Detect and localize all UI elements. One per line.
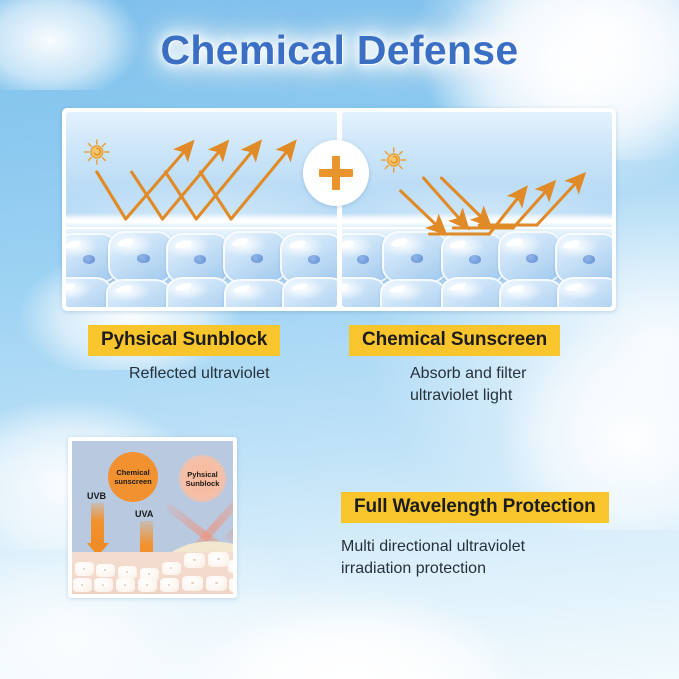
skin-cell — [228, 560, 233, 573]
skin-cross-section-inner: Chemical sunscreen Pyhsical Sunblock UVB… — [72, 441, 233, 594]
physical-sunblock-circle-line1: Pyhsical — [187, 470, 217, 479]
absorption-arrows — [342, 112, 613, 307]
skin-cell — [75, 562, 94, 576]
skin-layer — [72, 534, 233, 594]
skin-cross-section: Chemical sunscreen Pyhsical Sunblock UVB… — [68, 437, 237, 598]
chemical-sunscreen-badge: Chemical Sunscreen — [349, 325, 560, 356]
chemical-sunscreen-circle-line2: sunscreen — [114, 477, 152, 486]
skin-cell — [116, 578, 135, 592]
chemical-sunscreen-caption: Absorb and filter ultraviolet light — [410, 363, 527, 407]
skin-cell — [182, 576, 203, 591]
skin-cell — [94, 578, 113, 592]
skin-cell — [229, 578, 233, 592]
physical-sunblock-circle: Pyhsical Sunblock — [179, 455, 226, 502]
plus-icon-vertical-bar — [332, 156, 340, 190]
reflected-uv-diagram — [66, 112, 337, 307]
cloud-decoration — [200, 600, 520, 679]
full-wavelength-caption-line2: irradiation protection — [341, 558, 525, 580]
chemical-sunscreen-caption-line2: ultraviolet light — [410, 385, 527, 407]
skin-cell — [184, 553, 205, 568]
physical-sunblock-circle-line2: Sunblock — [186, 479, 220, 488]
skin-cell — [96, 564, 115, 577]
skin-cell — [162, 562, 181, 575]
chemical-sunscreen-circle-line1: Chemical — [116, 468, 149, 477]
full-wavelength-caption: Multi directional ultraviolet irradiatio… — [341, 536, 525, 580]
comparison-panel — [62, 108, 616, 311]
full-wavelength-caption-line1: Multi directional ultraviolet — [341, 536, 525, 558]
uvb-label: UVB — [87, 491, 106, 501]
sunscreen-infographic: Chemical Defense — [0, 0, 679, 679]
physical-sunblock-badge: Pyhsical Sunblock — [88, 325, 280, 356]
page-title: Chemical Defense — [0, 27, 679, 74]
sun-icon — [381, 148, 405, 172]
reflection-arrows — [66, 112, 337, 307]
chemical-sunscreen-caption-line1: Absorb and filter — [410, 363, 527, 385]
skin-cell — [206, 576, 227, 591]
skin-cell — [73, 578, 92, 592]
physical-sunblock-caption: Reflected ultraviolet — [129, 363, 270, 385]
absorbed-uv-diagram — [342, 112, 613, 307]
skin-cell — [160, 578, 179, 592]
full-wavelength-badge: Full Wavelength Protection — [341, 492, 609, 523]
skin-cell — [138, 578, 157, 592]
skin-cell — [208, 552, 229, 567]
plus-icon — [303, 140, 369, 206]
sun-icon — [85, 140, 109, 164]
uva-label: UVA — [135, 509, 153, 519]
chemical-sunscreen-circle: Chemical sunscreen — [108, 452, 158, 502]
